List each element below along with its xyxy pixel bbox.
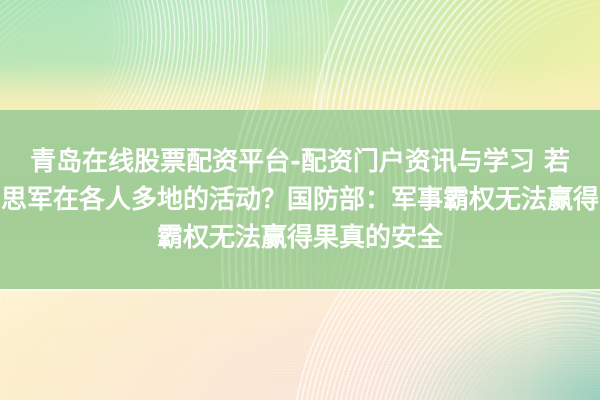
arc-top-right-pattern — [310, 0, 600, 110]
gradient-header-band — [0, 0, 600, 110]
arc-top-left-pattern — [0, 0, 288, 110]
banner-image: 青岛在线股票配资平台-配资门户资讯与学习 若 思军在各人多地的活动？国防部：军事… — [0, 0, 600, 400]
headline-line-2: 思军在各人多地的活动？国防部：军事霸权无法赢得 — [1, 181, 599, 219]
headline-block: 青岛在线股票配资平台-配资门户资讯与学习 若 思军在各人多地的活动？国防部：军事… — [0, 110, 600, 289]
band-separator-line — [0, 289, 600, 291]
cream-wave-band — [0, 289, 600, 400]
headline-line-1: 青岛在线股票配资平台-配资门户资讯与学习 若 — [30, 143, 570, 181]
teal-corner-tint — [370, 310, 600, 400]
headline-line-3: 霸权无法赢得果真的安全 — [157, 219, 443, 257]
